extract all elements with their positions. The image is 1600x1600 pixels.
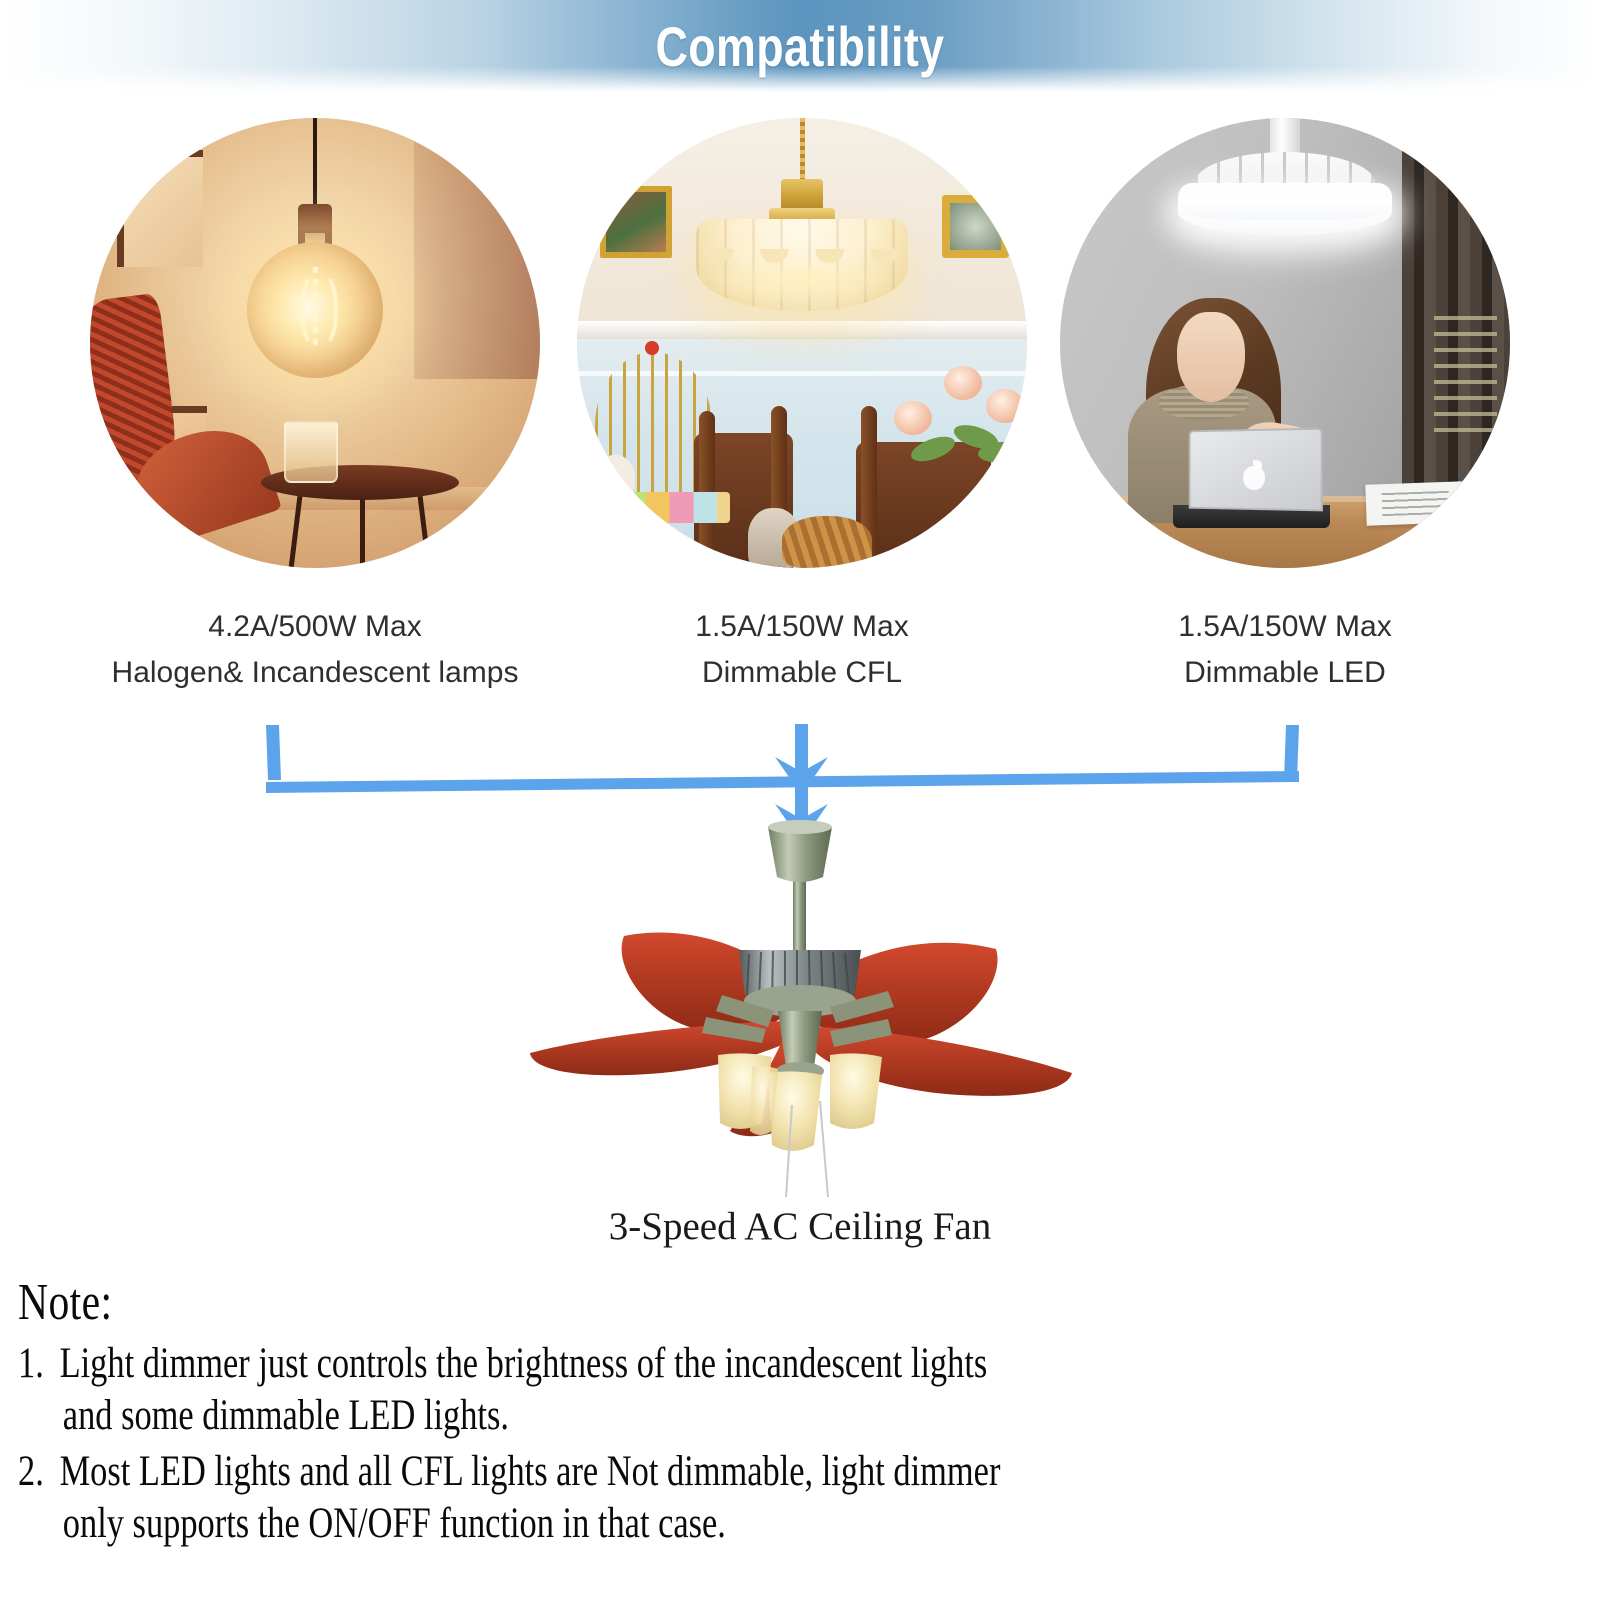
macarons-tray [622, 492, 730, 524]
table-leg [288, 496, 302, 568]
bracket-stem-left [266, 725, 281, 780]
light-shade [830, 1053, 882, 1129]
note-number: 1. [18, 1338, 60, 1390]
caption-halogen: 4.2A/500W Max Halogen& Incandescent lamp… [75, 604, 555, 696]
table-leg [360, 496, 365, 568]
header-banner: Compatibility [0, 0, 1600, 92]
dimmable-led-ceiling-photo [1060, 118, 1510, 568]
type-halogen: Halogen& Incandescent lamps [75, 650, 555, 696]
note-number: 2. [18, 1446, 60, 1498]
rose [986, 389, 1024, 423]
rating-cfl: 1.5A/150W Max [562, 604, 1042, 650]
bulb-filament [313, 267, 318, 349]
lamp-glow [707, 258, 897, 304]
table-leg [418, 496, 432, 568]
type-cfl: Dimmable CFL [562, 650, 1042, 696]
pendant-chain [800, 118, 805, 186]
note-line: Light dimmer just controls the brightnes… [60, 1340, 988, 1387]
notes-title: Note: [18, 1272, 1272, 1334]
canopy-top [768, 820, 832, 834]
note-line: Most LED lights and all CFL lights are N… [60, 1448, 1001, 1495]
type-led: Dimmable LED [1045, 650, 1525, 696]
note-text: Most LED lights and all CFL lights are N… [60, 1446, 1586, 1550]
laptop-screen [1189, 427, 1323, 511]
ceiling-fan-image [400, 805, 1200, 1205]
birdcage-finial [645, 341, 659, 355]
chair-rail-moulding [577, 321, 1027, 339]
compatibility-item-led [1045, 118, 1525, 588]
note-line: only supports the ON/OFF function in tha… [60, 1498, 1586, 1550]
note-item: 2. Most LED lights and all CFL lights ar… [18, 1446, 1586, 1550]
leaf [908, 432, 958, 467]
rose-bouquet [883, 361, 1018, 487]
rose [944, 366, 982, 400]
rose [894, 401, 932, 435]
compatibility-item-halogen [75, 118, 555, 588]
note-item: 1. Light dimmer just controls the bright… [18, 1338, 1586, 1442]
dimmable-cfl-pendant-photo [577, 118, 1027, 568]
wall-shadow [414, 118, 540, 379]
framed-painting-icon [600, 186, 672, 258]
note-line: and some dimmable LED lights. [60, 1390, 1586, 1442]
compatibility-infographic: Compatibility [0, 0, 1600, 1600]
pendant-cord [313, 118, 317, 217]
halogen-incandescent-pendant-photo [90, 118, 540, 568]
page-title: Compatibility [160, 0, 1440, 92]
led-light-band [1182, 200, 1388, 220]
fan-caption: 3-Speed AC Ceiling Fan [0, 1202, 1600, 1252]
notes-list: 1. Light dimmer just controls the bright… [18, 1338, 1586, 1550]
fan-canopy [768, 827, 832, 882]
notes-section: Note: 1. Light dimmer just controls the … [18, 1272, 1586, 1554]
gold-mirror-frame-icon [942, 195, 1010, 258]
apple-logo-icon [1243, 466, 1265, 490]
bunny-figurine [595, 455, 635, 501]
woman-face [1177, 312, 1245, 402]
caption-led: 1.5A/150W Max Dimmable LED [1045, 604, 1525, 696]
magazine [1365, 481, 1465, 525]
compatible-light-types-row [0, 118, 1600, 588]
chair-post [699, 411, 715, 569]
croissant-basket [782, 516, 872, 568]
rating-halogen: 4.2A/500W Max [75, 604, 555, 650]
picture-frame-icon [117, 150, 203, 267]
curtain-pattern [1434, 316, 1497, 433]
caption-cfl: 1.5A/150W Max Dimmable CFL [562, 604, 1042, 696]
ceiling-fan-svg [400, 805, 1200, 1205]
rating-led: 1.5A/150W Max [1045, 604, 1525, 650]
drinking-glass [284, 421, 338, 483]
compatibility-item-cfl [562, 118, 1042, 588]
bracket-bar [266, 771, 1299, 793]
note-text: Light dimmer just controls the brightnes… [60, 1338, 1586, 1442]
